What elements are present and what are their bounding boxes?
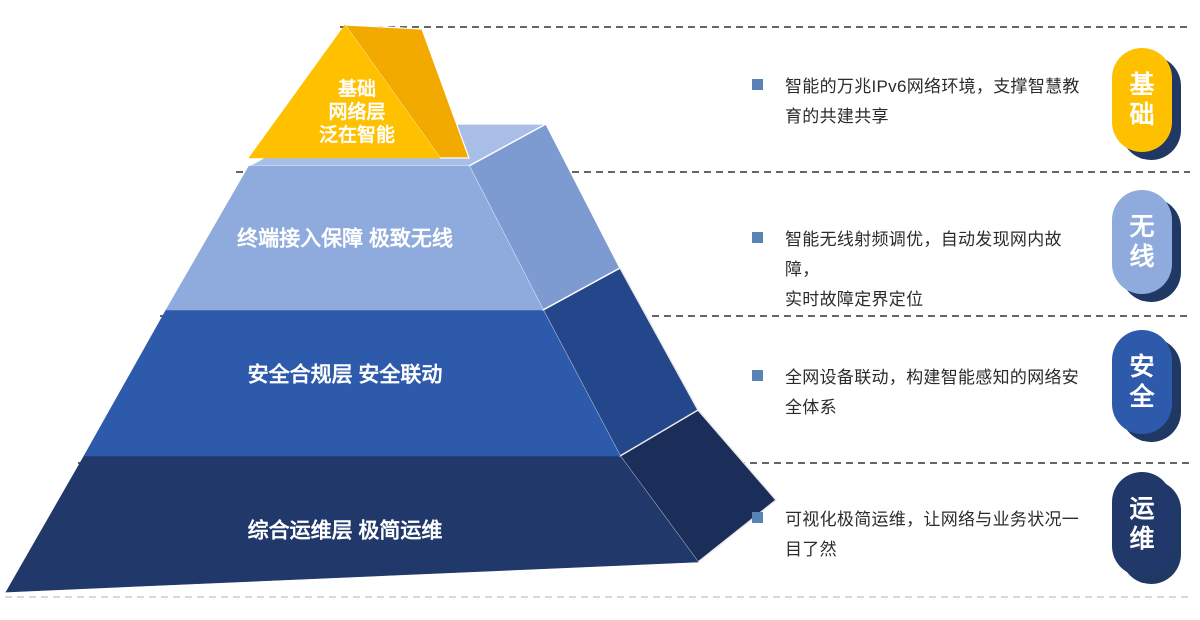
description-line: 智能的万兆IPv6网络环境，支撑智慧教 bbox=[785, 77, 1080, 96]
square-bullet-icon bbox=[752, 512, 763, 523]
description-item-security: 全网设备联动，构建智能感知的网络安 全体系 bbox=[752, 363, 1082, 423]
badge-body[interactable]: 基础 bbox=[1112, 48, 1172, 152]
tier-foundation-label-line-3: 泛在智能 bbox=[319, 123, 395, 146]
badge-label: 安全 bbox=[1127, 352, 1157, 412]
tier-foundation-label-line-1: 基础 bbox=[337, 77, 376, 100]
description-item-operations: 可视化极简运维，让网络与业务状况一 目了然 bbox=[752, 505, 1082, 565]
badge-foundation[interactable]: 基础 bbox=[1112, 48, 1184, 160]
description-line: 全网设备联动，构建智能感知的网络安 bbox=[785, 368, 1079, 387]
square-bullet-icon bbox=[752, 370, 763, 381]
pyramid-tier-foundation[interactable]: 基础 网络层 泛在智能 bbox=[249, 25, 469, 158]
badge-body[interactable]: 运维 bbox=[1112, 472, 1172, 576]
badge-security[interactable]: 安全 bbox=[1112, 330, 1184, 442]
badge-operations[interactable]: 运维 bbox=[1112, 472, 1184, 584]
description-line: 实时故障定界定位 bbox=[785, 290, 923, 309]
description-item-wireless: 智能无线射频调优，自动发现网内故障， 实时故障定界定位 bbox=[752, 225, 1082, 315]
description-line: 目了然 bbox=[785, 540, 837, 559]
description-item-foundation: 智能的万兆IPv6网络环境，支撑智慧教 育的共建共享 bbox=[752, 72, 1082, 132]
badge-wireless[interactable]: 无线 bbox=[1112, 190, 1184, 302]
badge-label: 无线 bbox=[1127, 212, 1157, 272]
tier-wireless-label: 终端接入保障 极致无线 bbox=[237, 227, 453, 251]
tier-security-label: 安全合规层 安全联动 bbox=[248, 363, 443, 387]
slide-canvas: 综合运维层 极简运维 安全合规层 安全联动 终端接入保障 极致无线 基础 网络层… bbox=[0, 0, 1200, 620]
description-line: 智能无线射频调优，自动发现网内故障， bbox=[785, 230, 1062, 279]
description-line: 可视化极简运维，让网络与业务状况一 bbox=[785, 510, 1079, 529]
badge-label: 基础 bbox=[1127, 70, 1157, 130]
tier-operations-label: 综合运维层 极简运维 bbox=[248, 519, 443, 543]
badge-label: 运维 bbox=[1127, 494, 1157, 554]
tier-foundation-label-line-2: 网络层 bbox=[328, 100, 385, 123]
square-bullet-icon bbox=[752, 232, 763, 243]
square-bullet-icon bbox=[752, 79, 763, 90]
badge-body[interactable]: 安全 bbox=[1112, 330, 1172, 434]
description-line: 育的共建共享 bbox=[785, 107, 889, 126]
badge-body[interactable]: 无线 bbox=[1112, 190, 1172, 294]
description-line: 全体系 bbox=[785, 398, 837, 417]
